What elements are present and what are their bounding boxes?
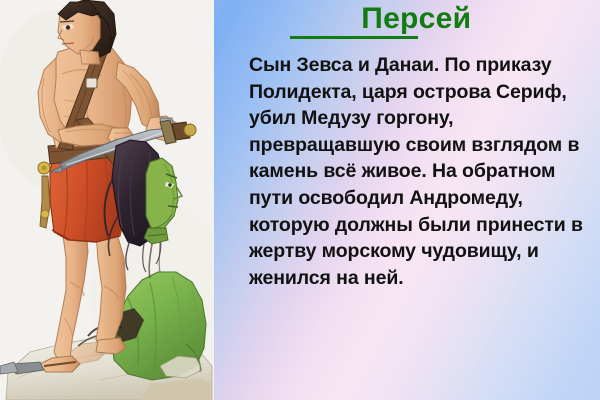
perseus-illustration (0, 0, 214, 400)
perseus-illustration-artwork (0, 0, 214, 400)
body-paragraph: Сын Зевса и Данаи. По приказу Полидекта,… (249, 52, 597, 291)
title-underline (290, 36, 418, 39)
page-title: Персей (232, 2, 592, 36)
body-text: Сын Зевса и Данаи. По приказу Полидекта,… (249, 52, 597, 291)
slide: Персей Сын Зевса и Данаи. По приказу Пол… (0, 0, 600, 400)
